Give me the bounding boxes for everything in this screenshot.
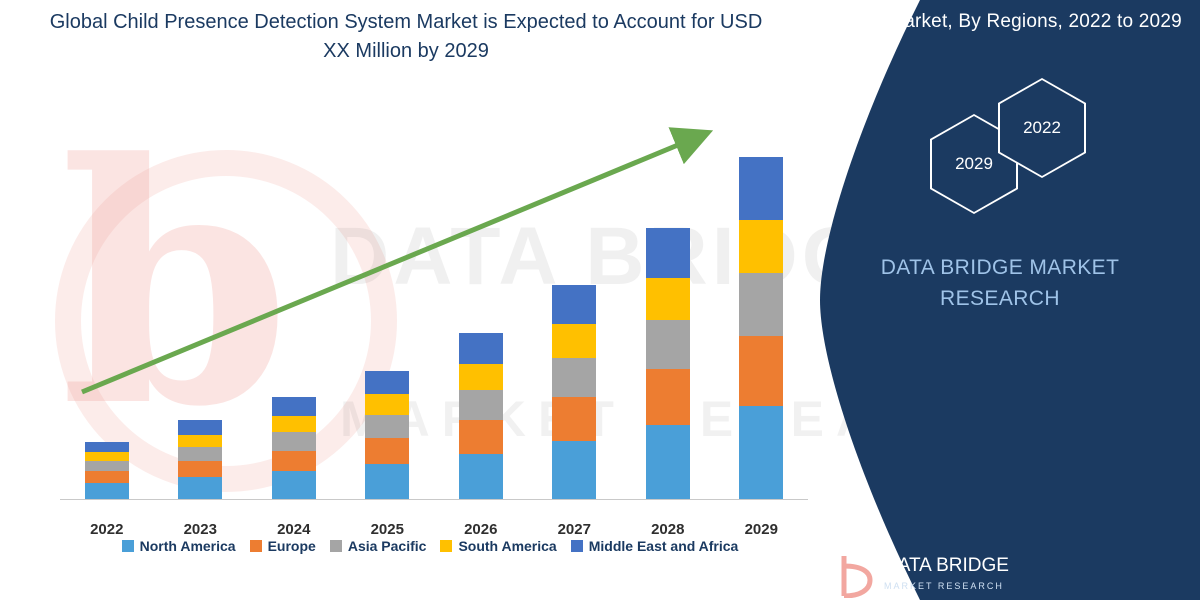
bar-segment [552,358,596,397]
bar-group [154,139,248,499]
legend-item[interactable]: Asia Pacific [330,538,427,554]
bar-segment [459,454,503,499]
bar-segment [178,461,222,477]
footer-logo-title: DATA BRIDGE [884,555,1009,576]
bar-segment [365,394,409,414]
legend-swatch [250,540,262,552]
legend-swatch [330,540,342,552]
chart-title: Global Child Presence Detection System M… [46,8,766,66]
legend-swatch [571,540,583,552]
legend-label: Europe [268,538,316,554]
bar-segment [178,447,222,462]
x-axis-label: 2025 [341,521,435,538]
bar-segment [552,397,596,441]
legend-item[interactable]: North America [122,538,236,554]
legend-swatch [122,540,134,552]
stacked-bar [552,285,596,499]
chart-legend: North AmericaEuropeAsia PacificSouth Ame… [40,538,820,554]
x-axis-label: 2024 [247,521,341,538]
legend-swatch [440,540,452,552]
brand-line-2: RESEARCH [800,283,1200,314]
brand-text: DATA BRIDGE MARKET RESEARCH [800,252,1200,314]
bar-group [715,139,809,499]
bar-segment [178,420,222,435]
bar-segment [85,461,129,471]
bar-segment [739,157,783,220]
bar-group [60,139,154,499]
bar-segment [178,435,222,447]
bar-segment [178,477,222,499]
bar-segment [552,441,596,499]
x-axis-label: 2027 [528,521,622,538]
footer-logo-subtitle: MARKET RESEARCH [884,576,1009,596]
stacked-bar [646,228,690,499]
legend-label: North America [140,538,236,554]
bar-segment [272,397,316,416]
legend-label: Asia Pacific [348,538,427,554]
bar-segment [365,371,409,394]
bar-group [247,139,341,499]
stacked-bar [178,420,222,499]
right-panel-title: System Market, By Regions, 2022 to 2029 [800,0,1200,36]
bar-segment [365,415,409,438]
x-axis-label: 2022 [60,521,154,538]
brand-line-1: DATA BRIDGE MARKET [800,252,1200,283]
bar-segment [646,278,690,320]
bar-segment [272,451,316,471]
bar-group [434,139,528,499]
bar-segment [459,390,503,421]
x-axis-labels: 20222023202420252026202720282029 [60,521,808,538]
bar-segment [365,464,409,499]
bar-group [341,139,435,499]
bar-segment [85,442,129,452]
bar-segment [459,420,503,453]
legend-item[interactable]: Europe [250,538,316,554]
footer-logo: DATA BRIDGE MARKET RESEARCH [840,552,1100,600]
bar-segment [646,369,690,424]
x-axis-line [60,499,808,500]
bar-segment [272,471,316,499]
bar-segment [552,324,596,357]
stacked-bar [85,442,129,499]
bar-segment [739,406,783,499]
stacked-bar-chart: 20222023202420252026202720282029 [40,100,820,500]
bar-segment [85,452,129,461]
bar-segment [552,285,596,324]
bar-group [528,139,622,499]
bar-group [621,139,715,499]
stacked-bar [459,333,503,499]
bar-segment [646,320,690,369]
x-axis-label: 2028 [621,521,715,538]
bar-segment [646,228,690,277]
bar-segment [272,416,316,432]
footer-logo-text: DATA BRIDGE MARKET RESEARCH [884,556,1009,596]
databridge-logo-icon [840,554,876,598]
bars-container [60,139,808,499]
bar-segment [646,425,690,499]
bar-segment [365,438,409,464]
bar-segment [85,483,129,499]
bar-segment [739,336,783,406]
stacked-bar [365,371,409,499]
bar-segment [272,432,316,451]
legend-label: South America [458,538,556,554]
x-axis-label: 2029 [715,521,809,538]
bar-segment [459,364,503,390]
bar-segment [459,333,503,364]
x-axis-label: 2026 [434,521,528,538]
bar-segment [739,220,783,274]
bar-segment [739,273,783,336]
bar-segment [85,471,129,483]
hexagon-group: 2029 2022 [800,92,1200,222]
stacked-bar [272,397,316,499]
x-axis-label: 2023 [154,521,248,538]
infographic-page: b DATA BRIDGE MARKET RESEARCH Global Chi… [0,0,1200,600]
legend-item[interactable]: Middle East and Africa [571,538,739,554]
legend-label: Middle East and Africa [589,538,739,554]
legend-item[interactable]: South America [440,538,556,554]
stacked-bar [739,157,783,499]
